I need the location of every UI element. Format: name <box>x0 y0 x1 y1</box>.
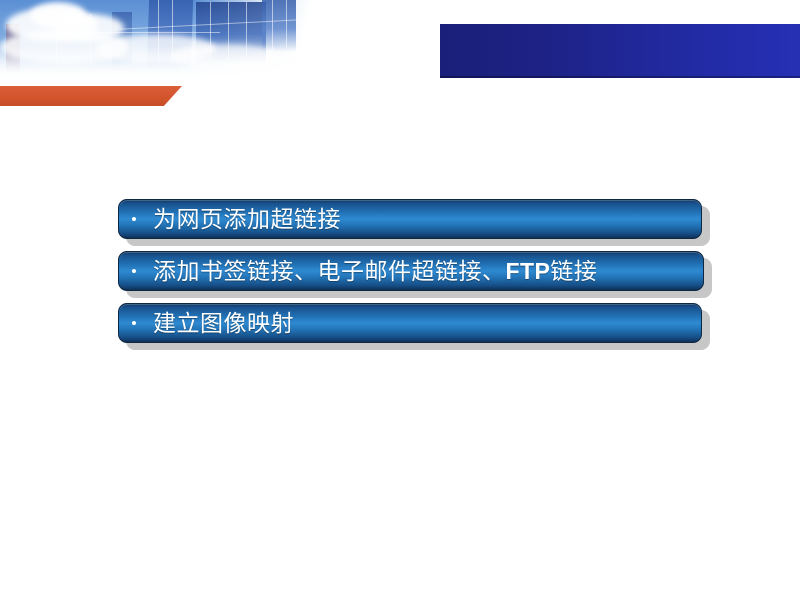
building-mullion <box>272 0 273 50</box>
list-item[interactable]: • 添加书签链接、电子邮件超链接、 FTP 链接 <box>118 251 718 293</box>
orange-accent-bar <box>0 86 182 106</box>
list-item[interactable]: • 建立图像映射 <box>118 303 718 345</box>
bullet-bar-list: • 为网页添加超链接 • 添加书签链接、电子邮件超链接、 FTP 链接 • 建立… <box>118 199 718 355</box>
bullet-dot-icon: • <box>131 263 137 280</box>
bullet-bar-label: 建立图像映射 <box>153 312 294 335</box>
bullet-dot-icon: • <box>131 315 137 332</box>
title-banner <box>440 24 800 78</box>
bullet-bar-1[interactable]: • 为网页添加超链接 <box>118 199 702 239</box>
bullet-bar-emphasis: FTP <box>505 260 550 283</box>
building-shape <box>262 0 296 52</box>
bullet-bar-2[interactable]: • 添加书签链接、电子邮件超链接、 FTP 链接 <box>118 251 704 291</box>
building-mullion <box>286 0 287 48</box>
list-item[interactable]: • 为网页添加超链接 <box>118 199 718 241</box>
bullet-bar-label: 添加书签链接、电子邮件超链接、 <box>153 260 506 283</box>
bullet-bar-suffix: 链接 <box>550 260 597 283</box>
bullet-bar-3[interactable]: • 建立图像映射 <box>118 303 702 343</box>
slide-canvas: • 为网页添加超链接 • 添加书签链接、电子邮件超链接、 FTP 链接 • 建立… <box>0 0 800 600</box>
bullet-bar-label: 为网页添加超链接 <box>153 208 341 231</box>
header-artwork <box>0 0 330 96</box>
bullet-dot-icon: • <box>131 211 137 228</box>
